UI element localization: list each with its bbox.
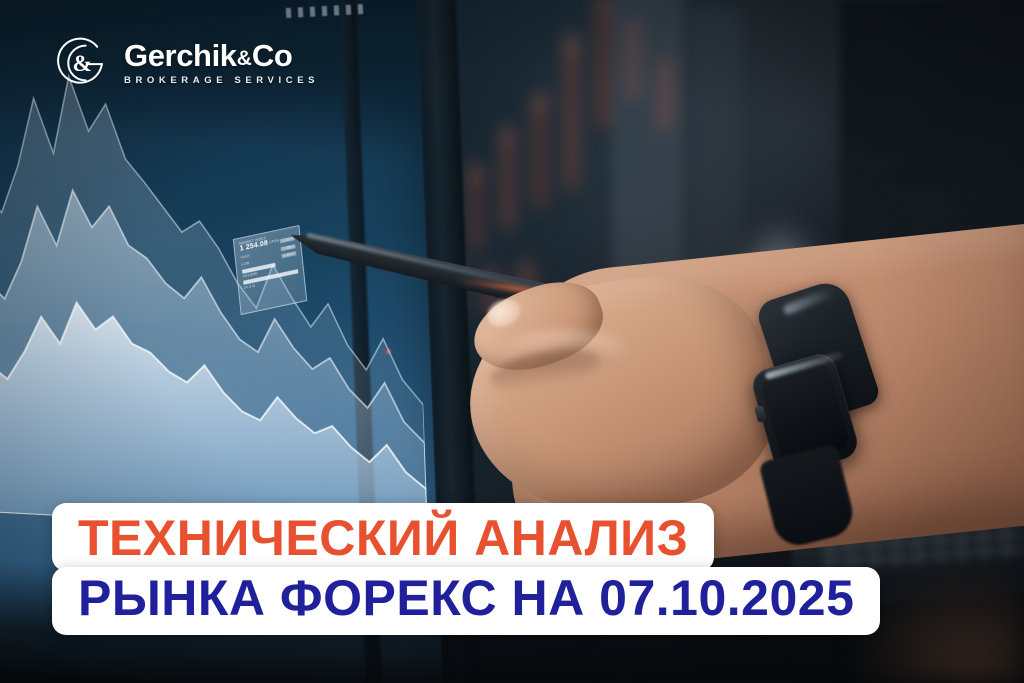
tooltip-row-2-label: LOW <box>241 262 249 267</box>
screen-area-chart <box>0 45 428 536</box>
title-banner-row-2: РЫНКА ФОРЕКС НА 07.10.2025 <box>52 567 880 635</box>
gerchik-monogram-icon: & <box>52 34 110 92</box>
poster: MARKET INDEX 1 254.08 OPEN 1 231.4 HIGH … <box>0 0 1024 683</box>
brand-name-part2: Co <box>252 38 293 73</box>
title-line-1: ТЕХНИЧЕСКИЙ АНАЛИЗ <box>78 511 688 565</box>
tooltip-row-1-label: HIGH <box>241 255 250 260</box>
title-line-2: РЫНКА ФОРЕКС НА 07.10.2025 <box>78 571 854 625</box>
tooltip-row-0-label: OPEN <box>269 240 279 245</box>
title-banner: ТЕХНИЧЕСКИЙ АНАЛИЗ РЫНКА ФОРЕКС НА 07.10… <box>52 503 1024 635</box>
brand-name: Gerchik&Co <box>124 40 319 72</box>
brand-name-part1: Gerchik <box>124 38 237 73</box>
title-banner-row-1: ТЕХНИЧЕСКИЙ АНАЛИЗ <box>52 503 714 571</box>
brand-logo[interactable]: & Gerchik&Co BROKERAGE SERVICES <box>52 34 319 92</box>
brand-tagline: BROKERAGE SERVICES <box>124 75 319 86</box>
brand-ampersand: & <box>237 47 252 70</box>
brand-logo-text: Gerchik&Co BROKERAGE SERVICES <box>124 40 319 87</box>
svg-text:&: & <box>72 51 91 77</box>
